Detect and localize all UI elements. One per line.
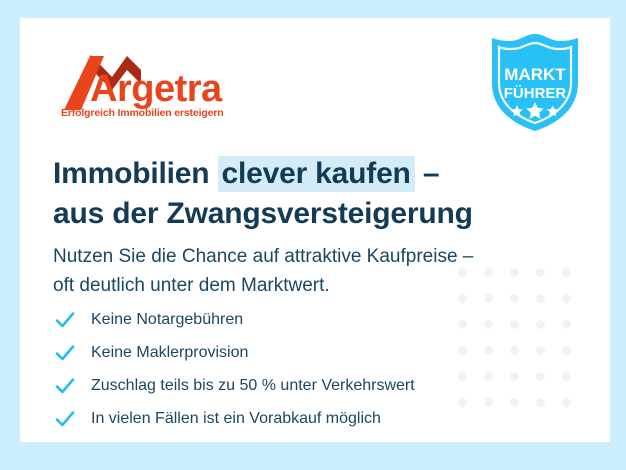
- benefit-label: Keine Notargebühren: [91, 311, 243, 329]
- benefits-list: Keine NotargebührenKeine Maklerprovision…: [53, 303, 523, 435]
- ad-banner-frame: Argetra Erfolgreich Immobilien ersteiger…: [0, 0, 626, 470]
- headline-line-1: Immobilien clever kaufen –: [53, 154, 573, 194]
- dot: [536, 372, 545, 381]
- dot: [536, 398, 545, 407]
- headline-line-2: aus der Zwangsversteigerung: [53, 194, 573, 234]
- headline-prefix: Immobilien: [53, 157, 218, 190]
- dot: [562, 372, 571, 381]
- dot: [562, 346, 571, 355]
- dot: [562, 320, 571, 329]
- check-icon: [53, 308, 77, 332]
- market-leader-badge: MARKT FÜHRER: [483, 28, 587, 138]
- subheadline-line-1: Nutzen Sie die Chance auf attraktive Kau…: [53, 243, 553, 272]
- benefit-item: Zuschlag teils bis zu 50 % unter Verkehr…: [53, 369, 523, 402]
- headline-highlight: clever kaufen: [218, 156, 415, 192]
- headline-suffix: –: [415, 157, 440, 190]
- dot: [562, 268, 571, 277]
- benefit-item: In vielen Fällen ist ein Vorabkauf mögli…: [53, 402, 523, 435]
- benefit-item: Keine Maklerprovision: [53, 336, 523, 369]
- svg-text:Erfolgreich Immobilien ersteig: Erfolgreich Immobilien ersteigern: [61, 107, 224, 119]
- badge-line2: FÜHRER: [504, 85, 567, 102]
- page-title: Immobilien clever kaufen – aus der Zwang…: [53, 154, 573, 234]
- ad-banner-canvas: Argetra Erfolgreich Immobilien ersteiger…: [20, 18, 610, 442]
- dot: [536, 320, 545, 329]
- check-icon: [53, 407, 77, 431]
- dot: [536, 346, 545, 355]
- benefit-label: In vielen Fällen ist ein Vorabkauf mögli…: [91, 410, 381, 428]
- argetra-logo-mark: Argetra Erfolgreich Immobilien ersteiger…: [57, 44, 247, 122]
- benefit-item: Keine Notargebühren: [53, 303, 523, 336]
- check-icon: [53, 374, 77, 398]
- badge-line1: MARKT: [504, 65, 566, 84]
- dot: [562, 294, 571, 303]
- benefit-label: Keine Maklerprovision: [91, 344, 248, 362]
- argetra-logo[interactable]: Argetra Erfolgreich Immobilien ersteiger…: [57, 44, 247, 122]
- shield-icon: MARKT FÜHRER: [483, 28, 587, 138]
- svg-text:Argetra: Argetra: [90, 68, 223, 110]
- subheadline-line-2: oft deutlich unter dem Marktwert.: [53, 272, 553, 301]
- check-icon: [53, 341, 77, 365]
- subheadline: Nutzen Sie die Chance auf attraktive Kau…: [53, 243, 553, 300]
- dot: [562, 398, 571, 407]
- benefit-label: Zuschlag teils bis zu 50 % unter Verkehr…: [91, 377, 415, 395]
